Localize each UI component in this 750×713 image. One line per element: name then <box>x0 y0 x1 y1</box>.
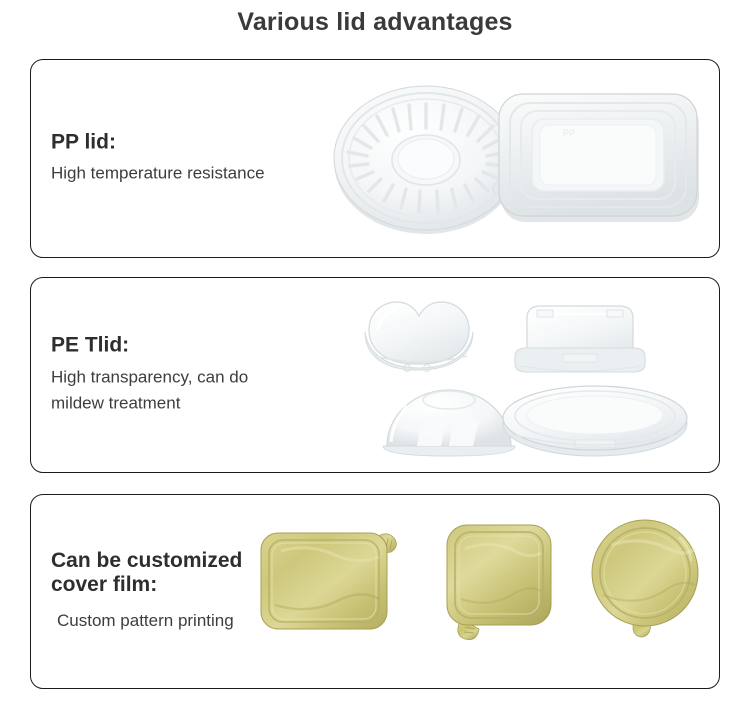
cover-film-text-block: Can be customized cover film: Custom pat… <box>51 549 351 635</box>
gold-square-foil-lid-photo <box>447 525 551 640</box>
pp-lid-description: High temperature resistance <box>51 161 351 187</box>
svg-text:PP: PP <box>563 128 575 138</box>
panel-pe-lid: PE Tlid: High transparency, can do milde… <box>30 277 720 473</box>
pe-heart-dome-lid-photo <box>365 302 473 371</box>
pp-lid-text-block: PP lid: High temperature resistance <box>51 130 351 187</box>
pe-oval-lid-photo <box>503 386 687 456</box>
pp-lid-heading: PP lid: <box>51 130 351 155</box>
cover-film-description: Custom pattern printing <box>57 608 351 634</box>
panel-cover-film: Can be customized cover film: Custom pat… <box>30 494 720 689</box>
pe-square-dome-lid-photo <box>515 306 645 372</box>
pe-lid-heading: PE Tlid: <box>51 333 351 358</box>
pe-lid-description: High transparency, can do mildew treatme… <box>51 364 351 417</box>
page-title: Various lid advantages <box>0 8 750 37</box>
pp-rectangular-lid-photo: PP <box>493 94 699 222</box>
cover-film-heading: Can be customized cover film: <box>51 549 351 599</box>
gold-round-foil-lid-photo <box>592 520 698 637</box>
panel-pp-lid: PP PP lid: High temperature resistance <box>30 59 720 258</box>
pe-lid-text-block: PE Tlid: High transparency, can do milde… <box>51 333 351 416</box>
pe-round-dome-lid-photo <box>383 390 515 456</box>
pp-round-lid-photo <box>334 86 531 234</box>
